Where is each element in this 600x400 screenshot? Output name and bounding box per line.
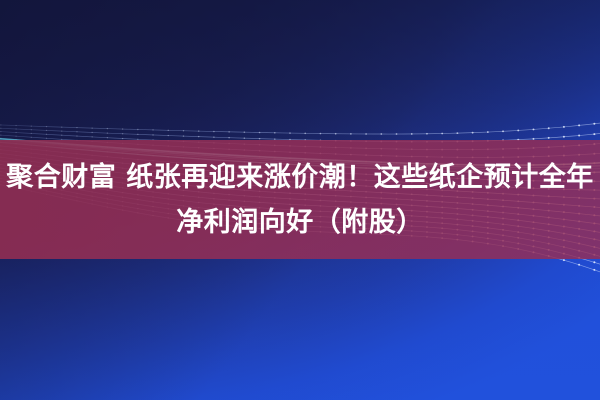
news-banner: 聚合财富 纸张再迎来涨价潮！这些纸企预计全年 净利润向好（附股） [0,0,600,400]
headline-line-1: 聚合财富 纸张再迎来涨价潮！这些纸企预计全年 [0,155,600,200]
headline-band: 聚合财富 纸张再迎来涨价潮！这些纸企预计全年 净利润向好（附股） [0,140,600,259]
headline-line-2: 净利润向好（附股） [0,200,600,245]
